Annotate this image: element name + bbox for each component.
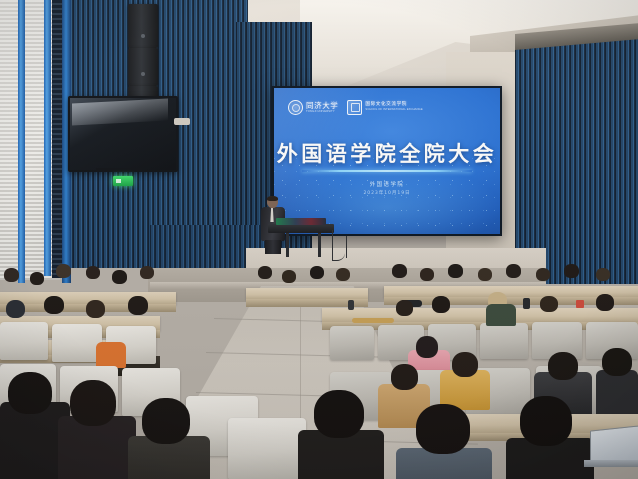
seat (52, 324, 102, 362)
logo-name-en: TONGJI UNIVERSITY (306, 111, 338, 114)
logo-name-en: SCHOOL OF INTERNATIONAL EXCHANGE (365, 109, 422, 112)
strap (352, 318, 394, 323)
projection-screen: 同济大学 TONGJI UNIVERSITY 国际文化交流学院 SCHOOL O… (272, 86, 502, 236)
seat (480, 323, 528, 359)
lectern-leg (286, 233, 289, 257)
lecture-hall-photo: 同济大学 TONGJI UNIVERSITY 国际文化交流学院 SCHOOL O… (0, 0, 638, 479)
slide-title-underline (302, 170, 472, 172)
desk-row (246, 288, 368, 300)
slide-date: 2023年10月19日 (274, 190, 500, 196)
stage-cable (346, 236, 347, 258)
water-bottle (348, 300, 354, 310)
wall-mounted-tv (68, 96, 178, 172)
logo-tongji: 同济大学 TONGJI UNIVERSITY (288, 100, 338, 115)
logo-school: 国际文化交流学院 SCHOOL OF INTERNATIONAL EXCHANG… (347, 100, 422, 115)
lectern-equipment (276, 218, 326, 225)
tv-mount (96, 168, 142, 172)
tv-screen-glare (72, 98, 168, 125)
seat (330, 326, 374, 360)
red-item (576, 300, 584, 308)
slide-subtitle: 外国语学院 (274, 180, 500, 188)
presenter-hair (267, 196, 278, 201)
window-mullion (44, 0, 51, 276)
right-slat-wall (515, 34, 638, 284)
tv-bracket (174, 118, 190, 125)
speaker-column-icon (128, 48, 158, 86)
logo-name-cn: 国际文化交流学院 (365, 103, 422, 108)
seat (0, 322, 48, 360)
lectern-leg (318, 233, 321, 257)
lectern (268, 224, 334, 233)
logo-name-cn: 同济大学 (306, 102, 338, 110)
water-bottle (523, 298, 530, 309)
square-emblem-icon (347, 100, 362, 115)
speaker-column-icon (128, 4, 158, 48)
seat (228, 418, 306, 479)
emergency-exit-sign-icon (113, 176, 133, 186)
slide-title: 外国语学院全院大会 (274, 138, 500, 168)
window-mullion (18, 0, 25, 283)
stage-cable (332, 230, 345, 261)
projected-slide: 同济大学 TONGJI UNIVERSITY 国际文化交流学院 SCHOOL O… (274, 88, 500, 234)
laptop-base (584, 460, 638, 467)
window-blinds (0, 0, 60, 280)
presenter-legs (265, 240, 281, 254)
circular-seal-icon (288, 100, 303, 115)
slide-logos: 同济大学 TONGJI UNIVERSITY 国际文化交流学院 SCHOOL O… (288, 100, 423, 115)
